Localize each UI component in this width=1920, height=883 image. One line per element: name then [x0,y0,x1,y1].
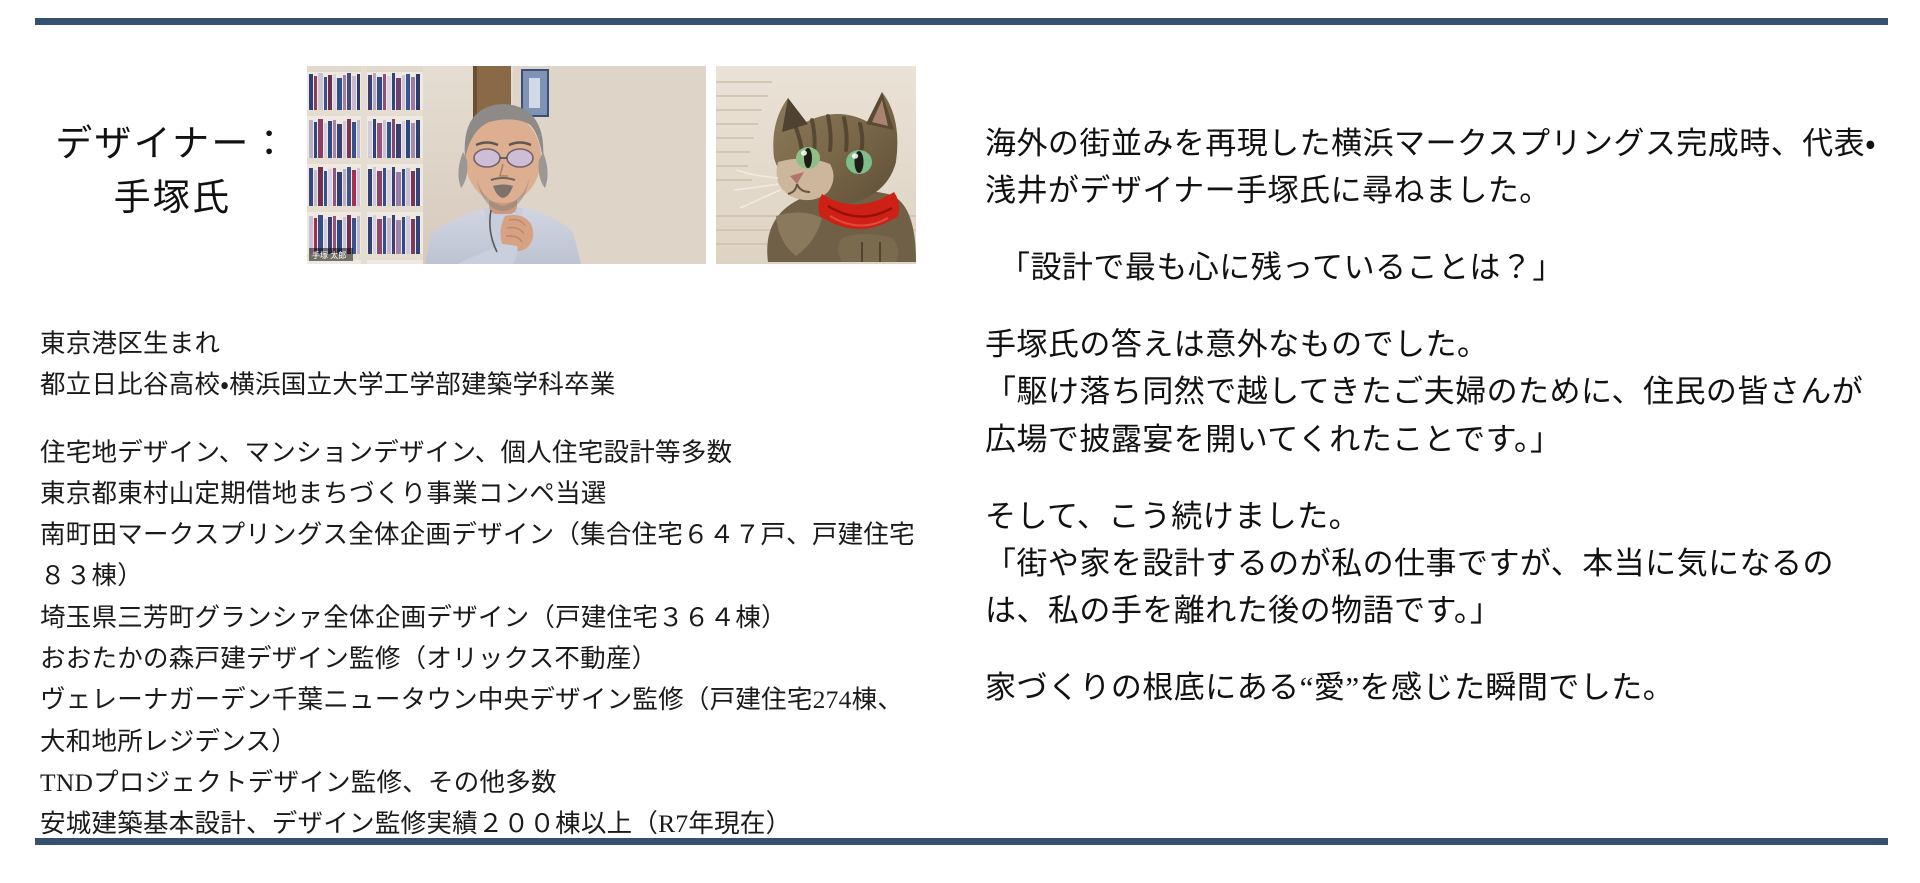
profile-line-anjo: 安城建築基本設計、デザイン監修実績２００棟以上（R7年現在） [40,803,940,844]
page-title-line-2: 手塚氏 [30,172,315,226]
story-paragraph-continued-lead: そして、こう続けました。 [985,493,1890,540]
profile-line-miyoshi: 埼玉県三芳町グランシァ全体企画デザイン（戸建住宅３６４棟） [40,597,940,638]
profile-line-birthplace: 東京港区生まれ [40,323,940,364]
story-paragraph-answer-lead: 手塚氏の答えは意外なものでした。 [985,321,1890,368]
story-spacer-1 [985,214,1890,244]
designer-portrait-illustration: 手塚 太郎 [307,66,706,264]
profile-spacer-1 [40,406,940,432]
slide-root: デザイナー： 手塚氏 [0,0,1920,883]
page-title-line-1: デザイナー： [30,118,315,172]
story-paragraph-question: 「設計で最も心に残っていることは？」 [985,244,1890,291]
story-paragraph-continued-quote: 「街や家を設計するのが私の仕事ですが、本当に気になるのは、私の手を離れた後の物語… [985,540,1890,634]
designer-portrait-photo: 手塚 太郎 [307,66,706,264]
profile-line-higashimurayama: 東京都東村山定期借地まちづくり事業コンペ当選 [40,473,940,514]
profile-line-minamimachida: 南町田マークスプリングス全体企画デザイン（集合住宅６４７戸、戸建住宅８３棟） [40,514,920,597]
story-paragraph-closing: 家づくりの根底にある“愛”を感じた瞬間でした。 [985,664,1890,711]
svg-text:手塚 太郎: 手塚 太郎 [312,250,346,260]
cat-photo [716,66,916,264]
story-spacer-2 [985,291,1890,321]
page-title: デザイナー： 手塚氏 [30,118,315,225]
designer-profile-list: 東京港区生まれ 都立日比谷高校・横浜国立大学工学部建築学科卒業 住宅地デザイン、… [40,323,940,845]
story-paragraph-answer-quote: 「駆け落ち同然で越してきたご夫婦のために、住民の皆さんが広場で披露宴を開いてくれ… [985,368,1890,462]
story-spacer-3 [985,463,1890,493]
profile-line-verena: ヴェレーナガーデン千葉ニュータウン中央デザイン監修（戸建住宅274棟、大和地所レ… [40,679,920,762]
profile-line-ootakanomori: おおたかの森戸建デザイン監修（オリックス不動産） [40,638,940,679]
top-divider-rule [35,18,1888,25]
cat-illustration [716,66,916,264]
profile-line-tnd: TNDプロジェクトデザイン監修、その他多数 [40,762,940,803]
story-spacer-4 [985,634,1890,664]
profile-line-education: 都立日比谷高校・横浜国立大学工学部建築学科卒業 [40,364,940,405]
story-column: 海外の街並みを再現した横浜マークスプリングス完成時、代表・浅井がデザイナー手塚氏… [985,120,1890,711]
profile-line-works-overview: 住宅地デザイン、マンションデザイン、個人住宅設計等多数 [40,432,940,473]
story-paragraph-intro: 海外の街並みを再現した横浜マークスプリングス完成時、代表・浅井がデザイナー手塚氏… [985,120,1890,214]
